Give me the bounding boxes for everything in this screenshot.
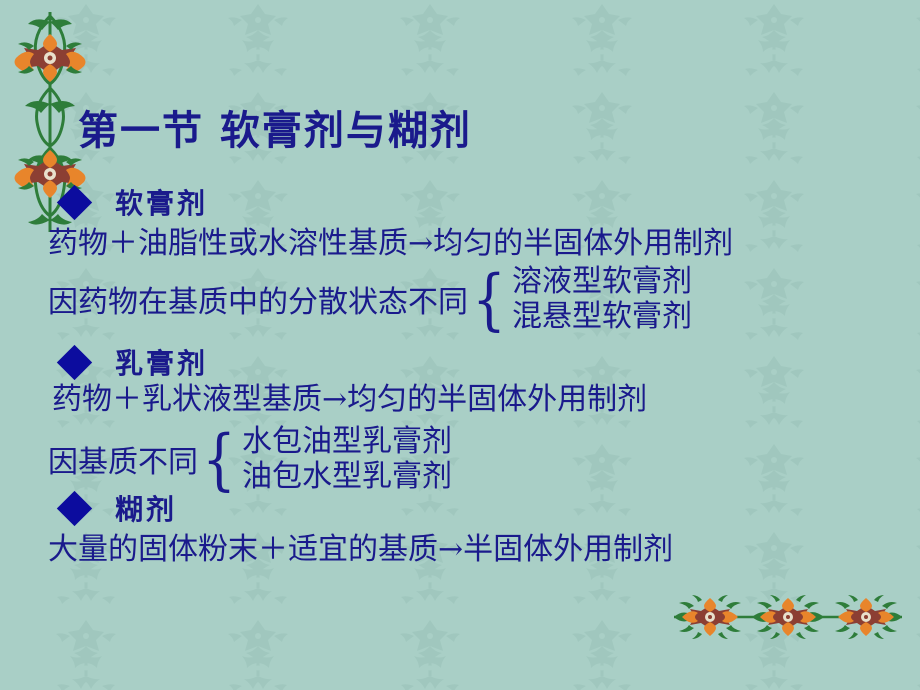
brace-item: 油包水型乳膏剂 (242, 459, 452, 494)
brace-lead-rugaoji: 因基质不同 (48, 437, 198, 481)
definition-huji: 大量的固体粉末＋适宜的基质→半固体外用制剂 (48, 524, 673, 568)
brace-mark-icon: { (472, 275, 506, 325)
brace-items-ruangaoji: 溶液型软膏剂 混悬型软膏剂 (512, 264, 692, 335)
brace-item: 溶液型软膏剂 (512, 264, 692, 299)
brace-group-ruangaoji: 因药物在基质中的分散状态不同 { 溶液型软膏剂 混悬型软膏剂 (48, 264, 692, 335)
definition-ruangaoji: 药物＋油脂性或水溶性基质→均匀的半固体外用制剂 (48, 218, 733, 262)
bullet-label-ruangaoji: 软膏剂 (115, 182, 208, 222)
slide-title: 第一节 软膏剂与糊剂 (78, 98, 472, 156)
brace-group-rugaoji: 因基质不同 { 水包油型乳膏剂 油包水型乳膏剂 (48, 424, 452, 495)
brace-item: 水包油型乳膏剂 (242, 424, 452, 459)
bullet-row-ruangaoji: 软膏剂 (62, 182, 208, 222)
diamond-bullet-icon (57, 490, 92, 525)
brace-items-rugaoji: 水包油型乳膏剂 油包水型乳膏剂 (242, 424, 452, 495)
bullet-label-huji: 糊剂 (115, 488, 177, 528)
definition-rugaoji: 药物＋乳状液型基质→均匀的半固体外用制剂 (52, 374, 647, 418)
diamond-bullet-icon (57, 184, 92, 219)
brace-item: 混悬型软膏剂 (512, 299, 692, 334)
brace-lead-ruangaoji: 因药物在基质中的分散状态不同 (48, 277, 468, 321)
slide-canvas: 第一节 软膏剂与糊剂 软膏剂 药物＋油脂性或水溶性基质→均匀的半固体外用制剂 因… (0, 0, 920, 690)
slide-content: 第一节 软膏剂与糊剂 软膏剂 药物＋油脂性或水溶性基质→均匀的半固体外用制剂 因… (0, 0, 920, 690)
bullet-row-huji: 糊剂 (62, 488, 177, 528)
brace-mark-icon: { (202, 435, 236, 485)
